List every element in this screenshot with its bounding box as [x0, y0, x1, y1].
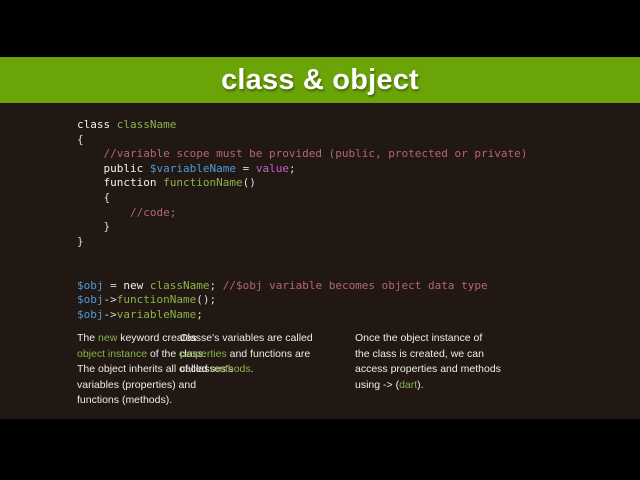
code-line: //variable scope must be provided (publi… [77, 147, 527, 162]
page-title: class & object [221, 66, 419, 95]
code-token-var: $obj [77, 293, 104, 306]
note-properties-methods: Classe's variables are calledproperties … [180, 331, 355, 409]
note-highlight: methods [210, 363, 250, 375]
note-text: Classe's variables are called [180, 332, 313, 344]
code-token-kw: new [123, 279, 150, 292]
code-line: $obj->variableName; [77, 308, 527, 323]
note-line: The new keyword creates [77, 331, 180, 347]
note-text: . [251, 363, 254, 375]
code-line: } [77, 235, 527, 250]
code-token-punct: () [243, 176, 256, 189]
note-text: ). [417, 379, 423, 391]
code-line: class className [77, 118, 527, 133]
note-text: functions (methods). [77, 394, 172, 406]
slide-body: class className{ //variable scope must b… [0, 103, 640, 419]
note-line: called methods. [180, 362, 355, 378]
slide-root: class & object class className{ //variab… [0, 0, 640, 480]
code-token-name: variableName [117, 308, 196, 321]
title-band: class & object [0, 57, 640, 103]
note-highlight: new [98, 332, 117, 344]
code-token-comment: //code; [77, 206, 176, 219]
note-line: The object inherits all of classes's [77, 362, 180, 378]
note-line: Once the object instance of [355, 331, 575, 347]
code-token-name: functionName [117, 293, 196, 306]
code-token-punct: ; [289, 162, 296, 175]
note-text: and functions are [227, 348, 310, 360]
code-token-kw: public [77, 162, 150, 175]
code-token-punct: { [77, 133, 84, 146]
note-line: variables (properties) and [77, 378, 180, 394]
note-line: object instance of the class. [77, 347, 180, 363]
code-line [77, 249, 527, 264]
code-token-name: className [117, 118, 177, 131]
code-line [77, 264, 527, 279]
code-token-punct: (); [196, 293, 216, 306]
code-token-var: $variableName [150, 162, 236, 175]
note-text: using -> ( [355, 379, 399, 391]
code-line: public $variableName = value; [77, 162, 527, 177]
note-new-keyword: The new keyword createsobject instance o… [0, 331, 180, 409]
code-line: } [77, 220, 527, 235]
note-text: variables (properties) and [77, 379, 196, 391]
letterbox-bottom [0, 419, 640, 480]
code-token-comment: //variable scope must be provided (publi… [77, 147, 527, 160]
note-line: the class is created, we can [355, 347, 575, 363]
code-line: $obj->functionName(); [77, 293, 527, 308]
note-text: Once the object instance of [355, 332, 482, 344]
note-text: the class is created, we can [355, 348, 484, 360]
code-token-punct: } [77, 220, 110, 233]
code-token-punct: ; [196, 308, 203, 321]
code-line: { [77, 133, 527, 148]
code-token-name: functionName [163, 176, 242, 189]
note-line: access properties and methods [355, 362, 575, 378]
code-token-var: $obj [77, 308, 104, 321]
note-text: The [77, 332, 98, 344]
note-arrow-access: Once the object instance ofthe class is … [355, 331, 575, 409]
code-token-kw: class [77, 118, 117, 131]
code-token-kw: function [77, 176, 163, 189]
letterbox-top [0, 0, 640, 57]
code-line: //code; [77, 206, 527, 221]
note-highlight: properties [180, 348, 227, 360]
note-line: Classe's variables are called [180, 331, 355, 347]
code-block: class className{ //variable scope must b… [77, 118, 527, 322]
note-text: called [180, 363, 210, 375]
code-token-punct: } [77, 235, 84, 248]
code-token-value: value [256, 162, 289, 175]
notes-row: The new keyword createsobject instance o… [0, 331, 640, 409]
code-line: { [77, 191, 527, 206]
code-token-var: $obj [77, 279, 104, 292]
code-token-punct: ; [209, 279, 222, 292]
note-highlight: dart [399, 379, 417, 391]
code-token-comment: //$obj variable becomes object data type [223, 279, 488, 292]
code-token-punct: -> [104, 308, 117, 321]
code-token-punct: = [236, 162, 256, 175]
code-token-punct: -> [104, 293, 117, 306]
code-line: $obj = new className; //$obj variable be… [77, 279, 527, 294]
note-text: access properties and methods [355, 363, 501, 375]
code-token-punct: { [77, 191, 110, 204]
note-line: functions (methods). [77, 393, 180, 409]
code-token-name: className [150, 279, 210, 292]
code-line: function functionName() [77, 176, 527, 191]
note-line: using -> (dart). [355, 378, 575, 394]
note-line: properties and functions are [180, 347, 355, 363]
note-highlight: object instance [77, 348, 147, 360]
code-token-punct: = [104, 279, 124, 292]
